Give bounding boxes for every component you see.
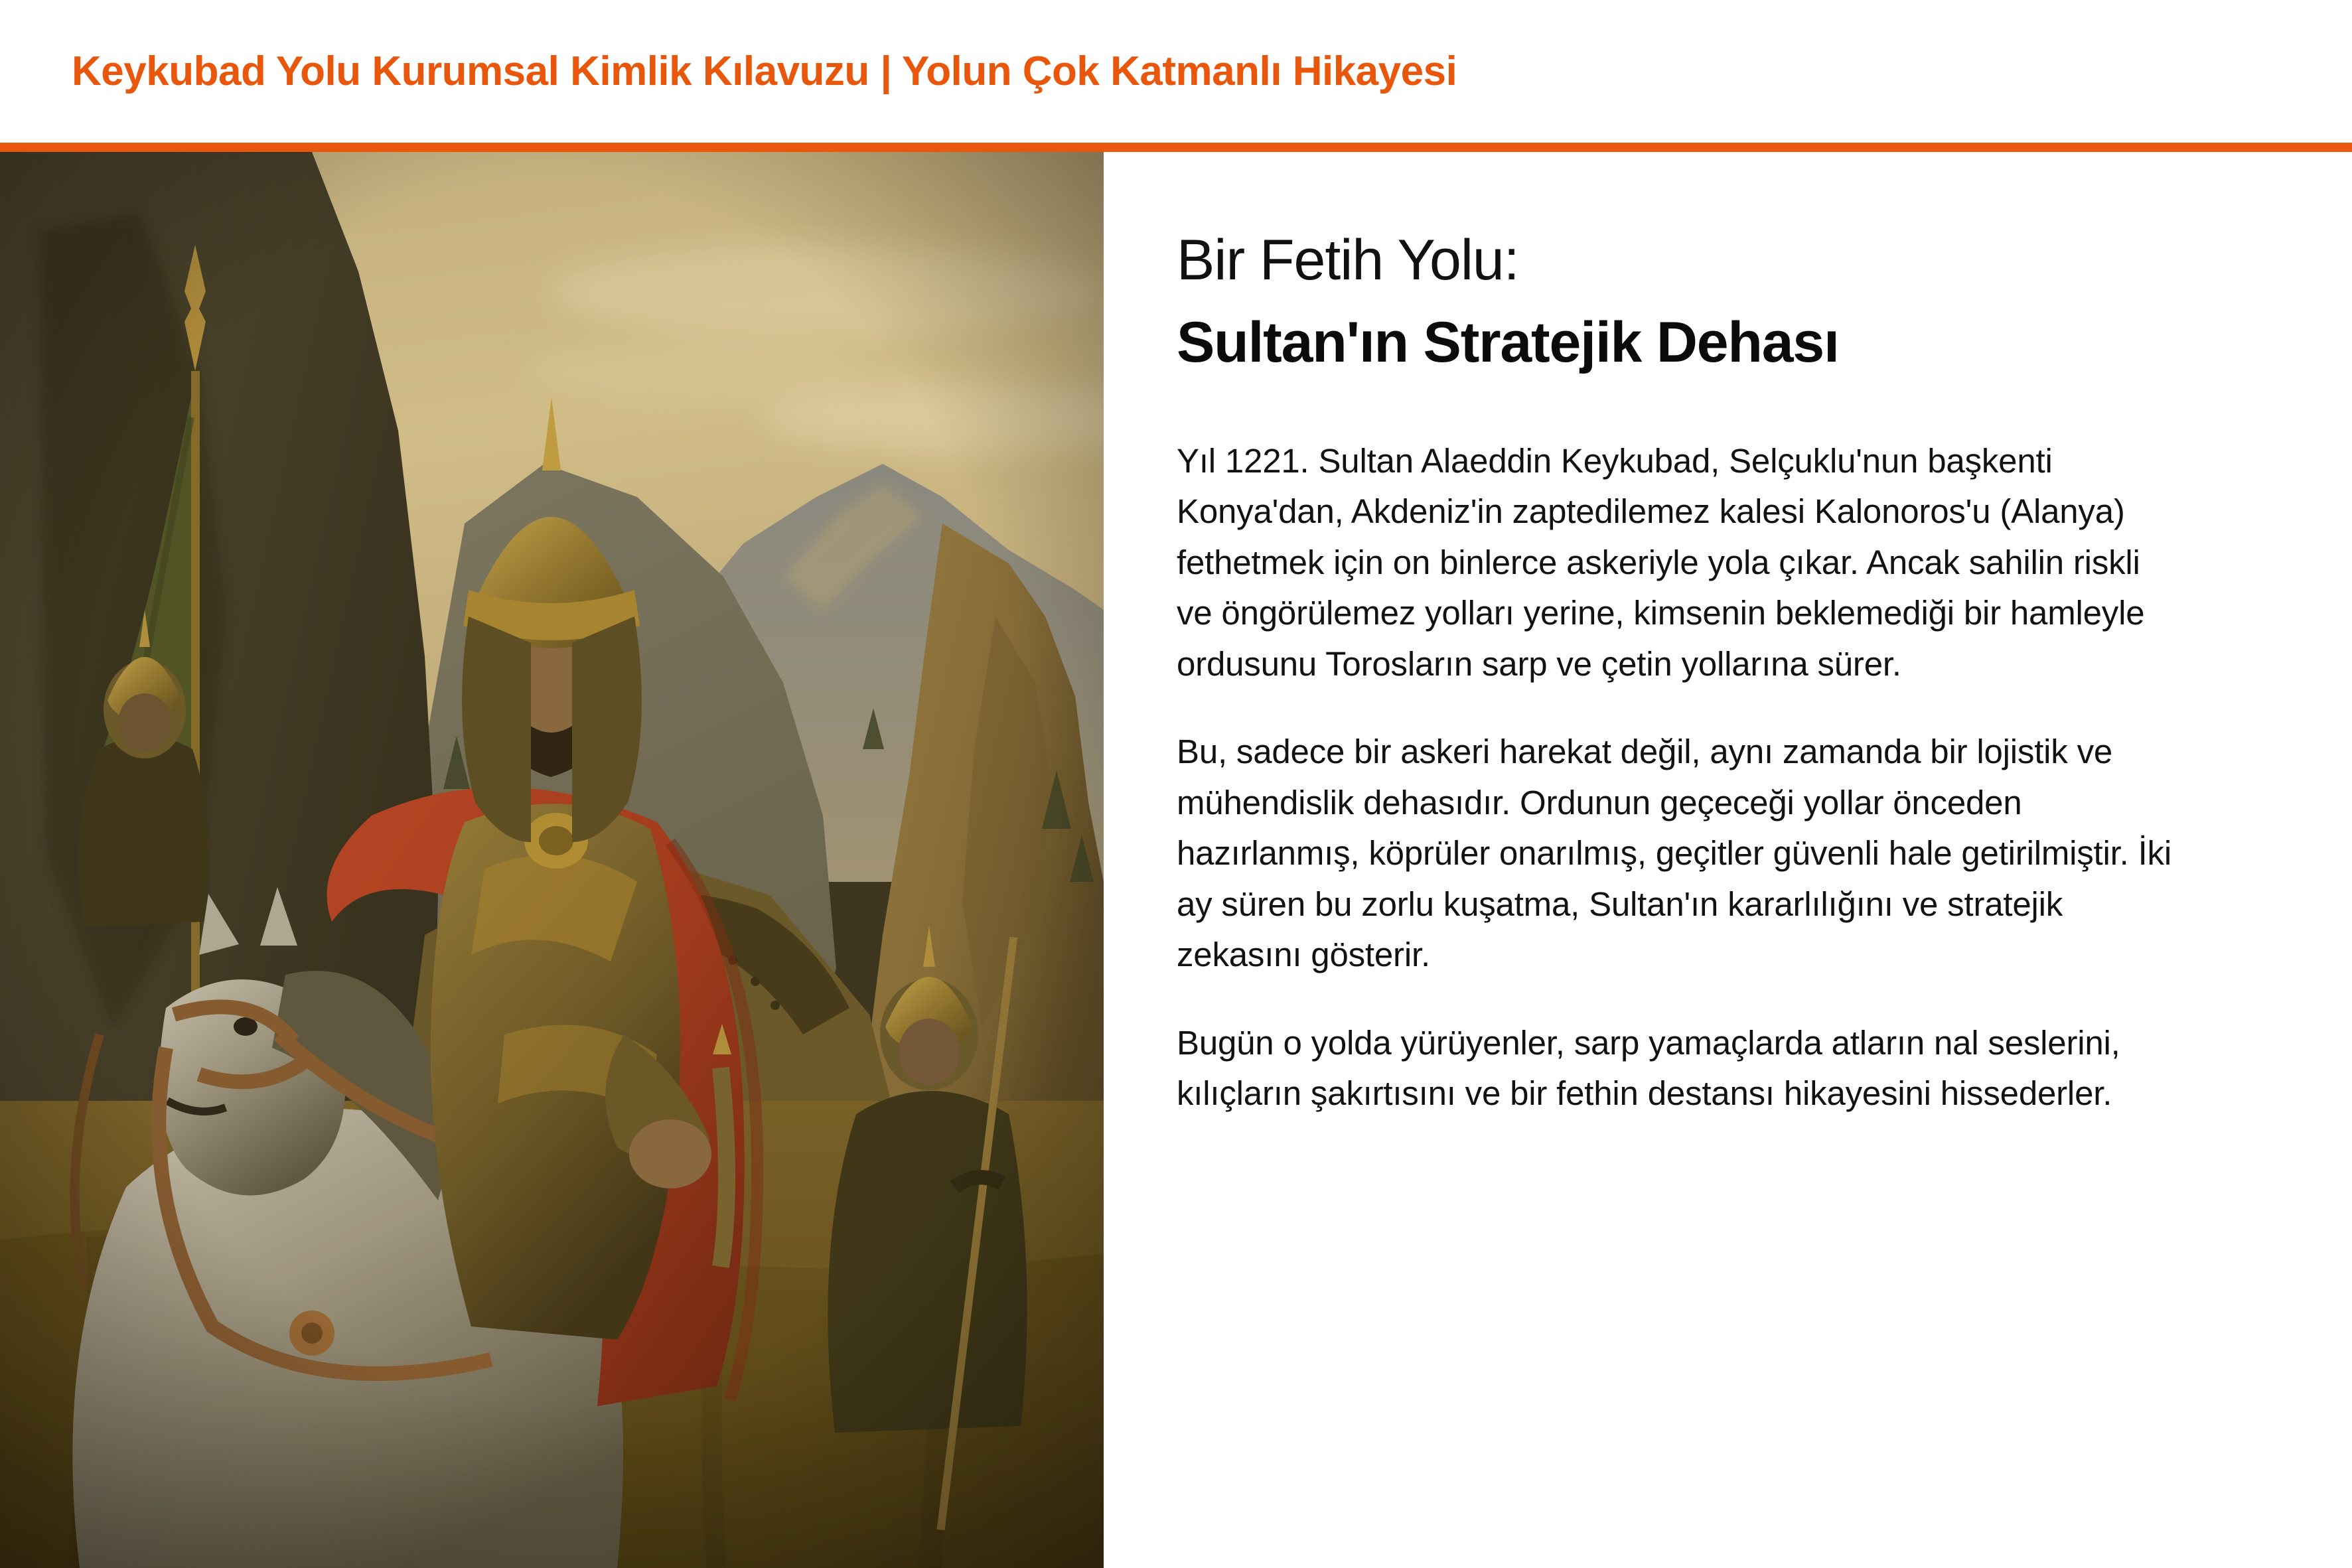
header-divider-rule — [0, 143, 2352, 152]
slide-root: Keykubad Yolu Kurumsal Kimlik Kılavuzu |… — [0, 0, 2352, 1568]
page-title: Keykubad Yolu Kurumsal Kimlik Kılavuzu |… — [72, 50, 1457, 93]
hero-illustration-svg — [0, 152, 1104, 1568]
story-paragraph-3: Bugün o yolda yürüyenler, sarp yamaçlard… — [1177, 1018, 2179, 1119]
story-text-panel: Bir Fetih Yolu: Sultan'ın Stratejik Deha… — [1104, 152, 2352, 1568]
story-paragraph-2: Bu, sadece bir askeri harekat değil, ayn… — [1177, 727, 2179, 981]
page-title-subtitle: Kurumsal Kimlik Kılavuzu | Yolun Çok Kat… — [361, 48, 1457, 94]
section-heading-line2: Sultan'ın Stratejik Dehası — [1177, 311, 2186, 374]
warm-tone-overlay — [0, 152, 1104, 1568]
page-title-brand: Keykubad Yolu — [72, 48, 361, 94]
section-heading-line1: Bir Fetih Yolu: — [1177, 228, 2186, 292]
story-body: Yıl 1221. Sultan Alaeddin Keykubad, Selç… — [1177, 436, 2186, 1119]
hero-illustration — [0, 152, 1104, 1568]
story-paragraph-1: Yıl 1221. Sultan Alaeddin Keykubad, Selç… — [1177, 436, 2179, 690]
slide-header: Keykubad Yolu Kurumsal Kimlik Kılavuzu |… — [0, 0, 2352, 143]
